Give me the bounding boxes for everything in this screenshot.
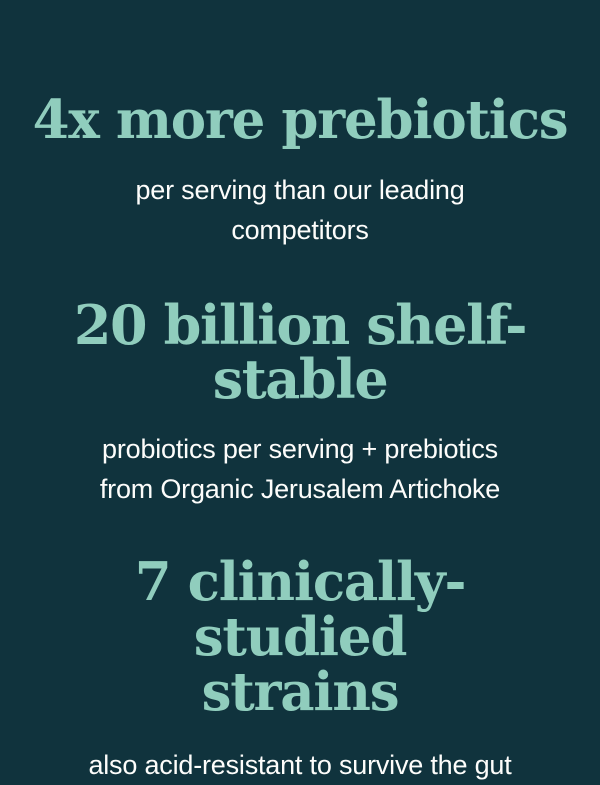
benefit-description: also acid-resistant to survive the gut — [88, 745, 511, 785]
benefit-headline: 4x more prebiotics — [33, 93, 568, 147]
benefits-panel: 4x more prebiotics per serving than our … — [0, 0, 600, 755]
benefit-headline: 20 billion shelf-stable — [30, 298, 570, 406]
benefit-description: probiotics per serving + prebiotics from… — [100, 429, 500, 509]
benefit-block-probiotics: 20 billion shelf-stable probiotics per s… — [30, 298, 570, 509]
benefit-headline: 7 clinically-studied strains — [30, 555, 570, 720]
benefit-block-strains: 7 clinically-studied strains also acid-r… — [30, 555, 570, 785]
benefit-description: per serving than our leading competitors — [135, 170, 464, 250]
benefit-block-prebiotics: 4x more prebiotics per serving than our … — [30, 93, 570, 250]
